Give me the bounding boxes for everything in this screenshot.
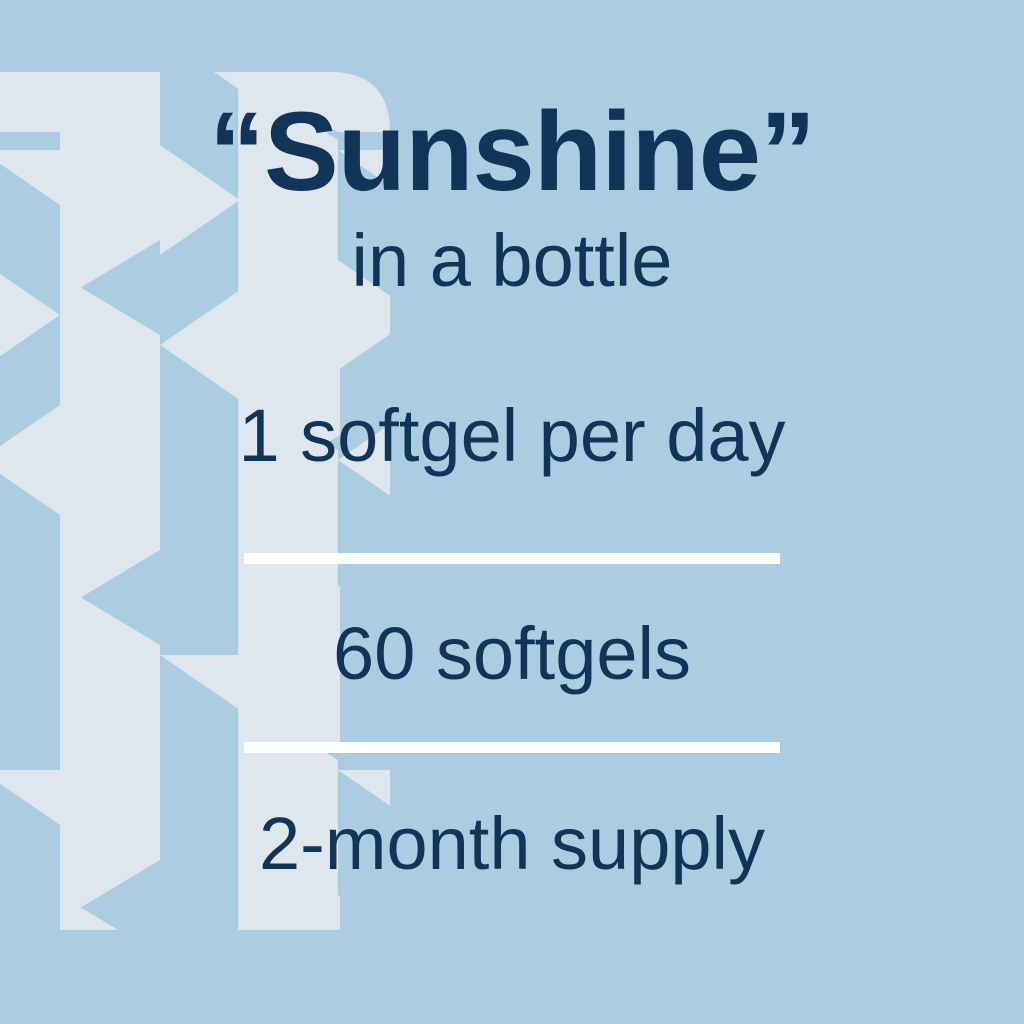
fact-count: 60 softgels: [0, 617, 1024, 691]
product-callout-graphic: “Sunshine” in a bottle 1 softgel per day…: [0, 0, 1024, 1024]
divider-above-60-softgels: [244, 553, 780, 564]
fact-dosage: 1 softgel per day: [0, 399, 1024, 473]
page-subtitle: in a bottle: [0, 224, 1024, 298]
page-title: “Sunshine”: [0, 96, 1024, 208]
divider-below-60-softgels: [244, 742, 780, 753]
fact-supply-duration: 2-month supply: [0, 807, 1024, 881]
